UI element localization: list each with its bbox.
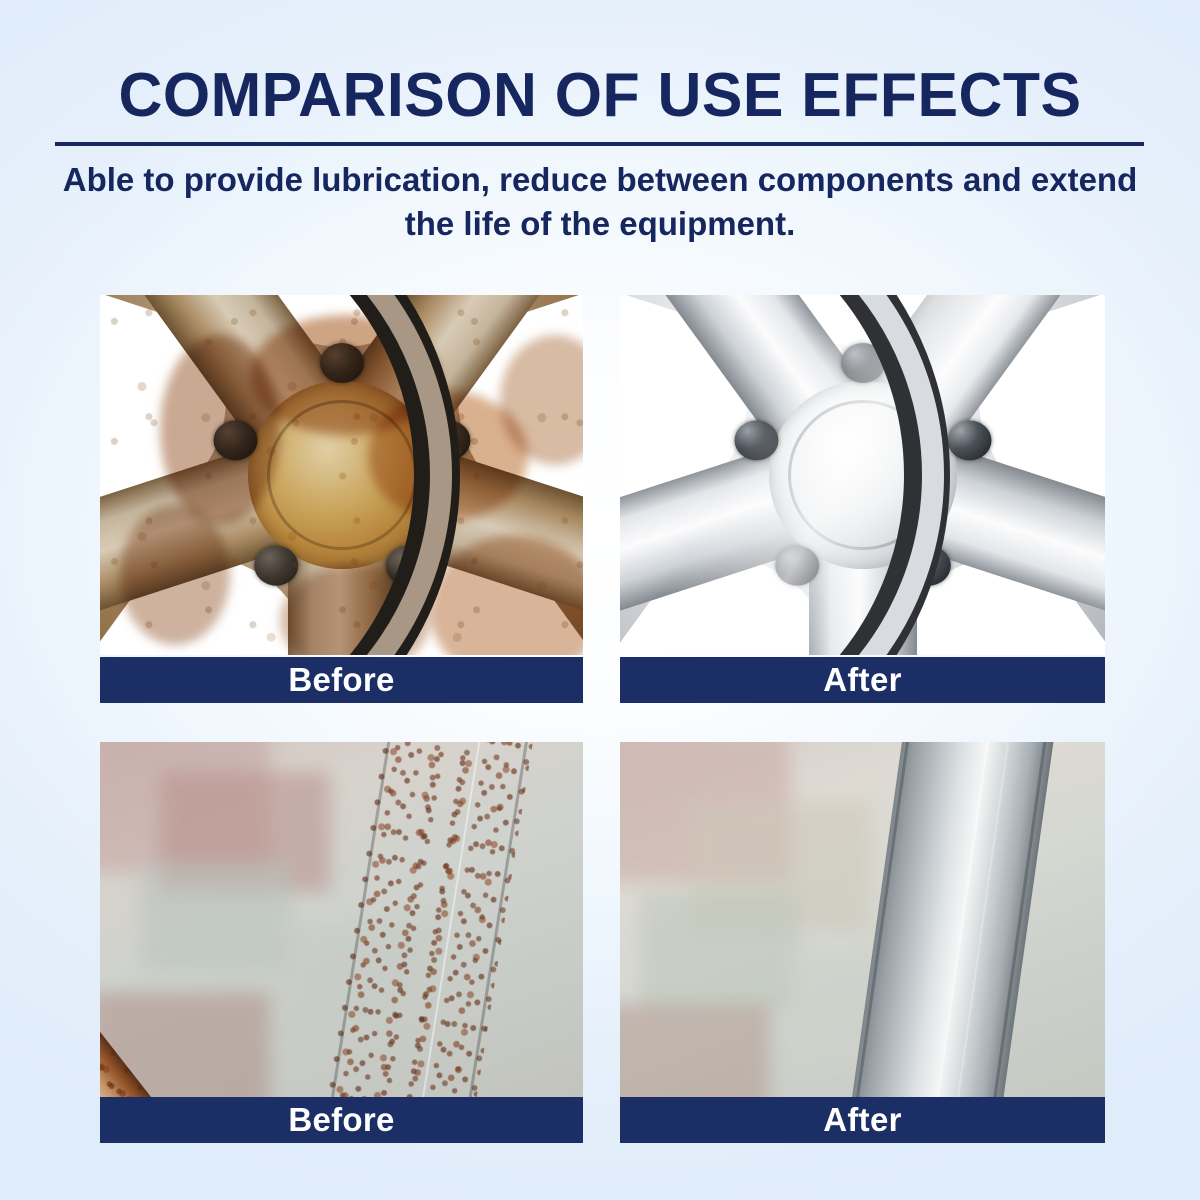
comparison-panel-pipe-after — [620, 742, 1105, 1097]
clean-alloy-wheel-photo — [620, 295, 1105, 655]
comparison-panel-wheel-before — [100, 295, 583, 655]
floor-tile — [620, 1004, 770, 1097]
floor-tile — [140, 862, 290, 972]
clean-metal-pipe-photo — [620, 742, 1105, 1097]
page-subtitle: Able to provide lubrication, reduce betw… — [52, 158, 1148, 246]
page-title: COMPARISON OF USE EFFECTS — [12, 62, 1188, 130]
infographic-page: COMPARISON OF USE EFFECTS Able to provid… — [0, 0, 1200, 1200]
pipe-highlight-line — [921, 742, 1001, 1097]
label-after-wheel: After — [620, 657, 1105, 703]
label-before-pipe: Before — [100, 1097, 583, 1143]
label-before-wheel: Before — [100, 657, 583, 703]
title-divider — [55, 142, 1144, 146]
comparison-panel-pipe-before — [100, 742, 583, 1097]
rim-lip — [620, 295, 944, 655]
wheel-lug-nut — [947, 420, 991, 460]
comparison-panel-wheel-after — [620, 295, 1105, 655]
rusty-alloy-wheel-photo — [100, 295, 583, 655]
rusty-metal-pipe-photo — [100, 742, 583, 1097]
floor-tile — [640, 892, 800, 1012]
rim-lip — [100, 295, 452, 655]
label-after-pipe: After — [620, 1097, 1105, 1143]
